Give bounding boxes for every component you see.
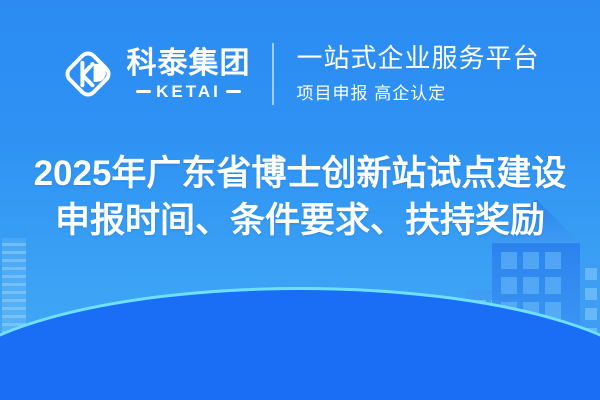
bottom-arc-band [0,290,600,400]
banner-header: 科泰集团 KETAI 一站式企业服务平台 项目申报 高企认定 [0,36,600,112]
brand-name-en: KETAI [156,83,221,100]
brand-name-en-row: KETAI [136,83,241,100]
tagline-sub: 项目申报 高企认定 [296,79,539,104]
tagline-main: 一站式企业服务平台 [296,44,539,74]
page-title: 2025年广东省博士创新站试点建设 申报时间、条件要求、扶持奖励 [0,150,600,244]
title-line-1: 2025年广东省博士创新站试点建设 [0,150,600,197]
tagline-block: 一站式企业服务平台 项目申报 高企认定 [296,44,539,104]
brand-name-cn: 科泰集团 [126,49,250,79]
promo-banner: 科泰集团 KETAI 一站式企业服务平台 项目申报 高企认定 2025年广东省博… [0,0,600,400]
vertical-divider [272,43,274,105]
ketai-diamond-logo-icon [60,46,116,102]
brand-dash-right [226,90,241,93]
title-line-2: 申报时间、条件要求、扶持奖励 [0,197,600,244]
brand-lockup: 科泰集团 KETAI [60,46,250,102]
brand-dash-left [136,90,151,93]
brand-text: 科泰集团 KETAI [126,49,250,100]
